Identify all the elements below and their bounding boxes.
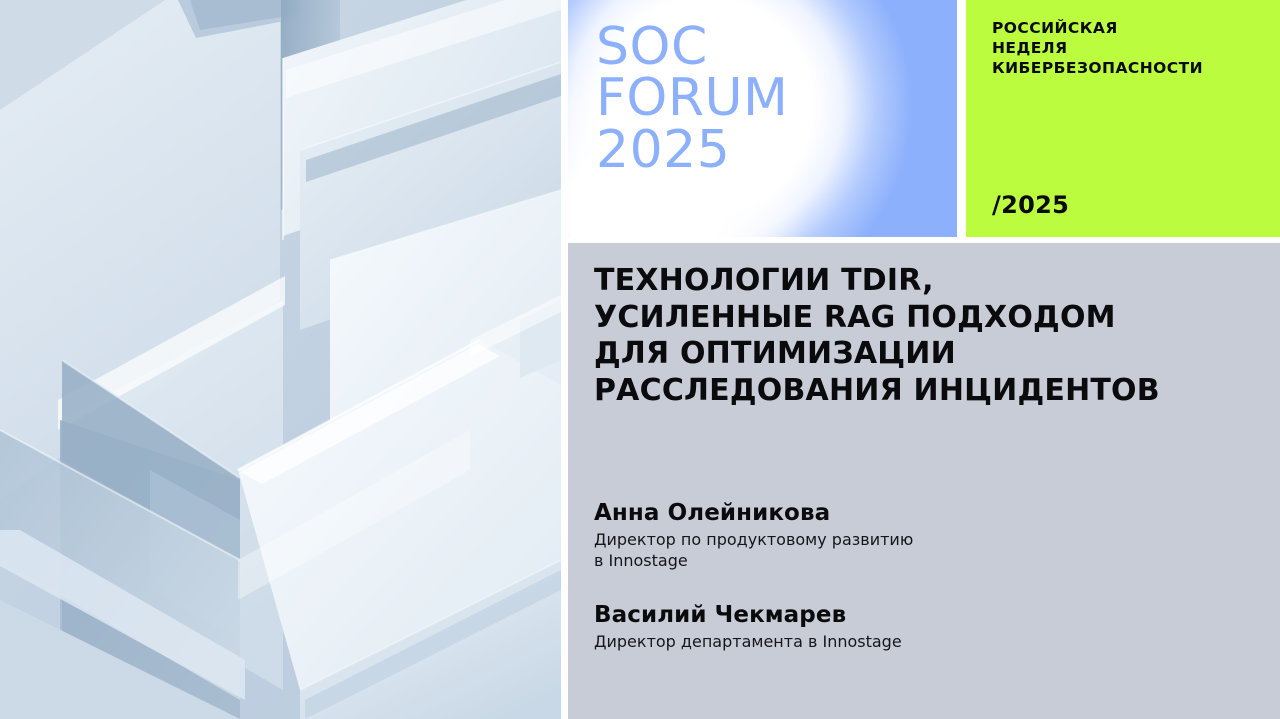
speaker-name: Анна Олейникова — [594, 499, 1064, 527]
speaker-name: Василий Чекмарев — [594, 601, 1064, 629]
speaker-item: Василий Чекмарев Директор департамента в… — [594, 601, 1064, 652]
speaker-item: Анна Олейникова Директор по продуктовому… — [594, 499, 1064, 571]
soc-forum-wordmark: SOC FORUM 2025 — [596, 22, 788, 176]
slide-root: SOC FORUM 2025 РОССИЙСКАЯ НЕДЕЛЯ КИБЕРБЕ… — [0, 0, 1280, 719]
event-name: РОССИЙСКАЯ НЕДЕЛЯ КИБЕРБЕЗОПАСНОСТИ — [992, 18, 1203, 78]
speaker-list: Анна Олейникова Директор по продуктовому… — [594, 499, 1064, 652]
brand-block: SOC FORUM 2025 — [568, 0, 957, 237]
speaker-role: Директор департамента в Innostage — [594, 631, 1064, 652]
speaker-role: Директор по продуктовому развитию в Inno… — [594, 529, 1064, 571]
event-year: /2025 — [992, 191, 1069, 219]
event-block: РОССИЙСКАЯ НЕДЕЛЯ КИБЕРБЕЗОПАСНОСТИ /202… — [966, 0, 1280, 237]
abstract-geometry-graphic — [0, 0, 561, 719]
talk-title: ТЕХНОЛОГИИ TDIR, УСИЛЕННЫЕ RAG ПОДХОДОМ … — [594, 263, 1194, 409]
content-panel: ТЕХНОЛОГИИ TDIR, УСИЛЕННЫЕ RAG ПОДХОДОМ … — [568, 243, 1280, 719]
hero-image — [0, 0, 561, 719]
